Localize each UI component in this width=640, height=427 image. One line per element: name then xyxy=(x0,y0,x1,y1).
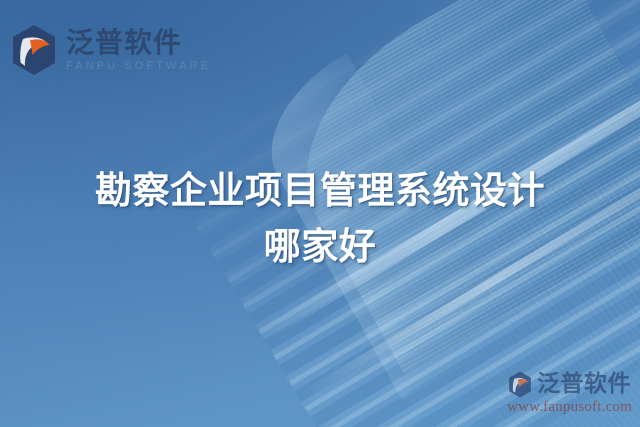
watermark-logo-row: 泛普软件 xyxy=(508,371,631,398)
watermark-company-name: 泛普软件 xyxy=(537,373,631,396)
promo-banner: 泛普软件 FANPU SOFTWARE 勘察企业项目管理系统设计 哪家好 泛普软… xyxy=(0,0,640,427)
watermark-fanpu-hexagon-sail-mark-icon xyxy=(508,371,532,398)
page-title: 勘察企业项目管理系统设计 哪家好 xyxy=(0,163,640,275)
fanpu-hexagon-sail-mark-icon xyxy=(11,24,57,76)
logo-company-name-cn: 泛普软件 xyxy=(66,28,211,58)
watermark-website-url: www.fanpusoft.com xyxy=(507,400,632,415)
fanpu-logo: 泛普软件 FANPU SOFTWARE xyxy=(11,24,211,76)
watermark: 泛普软件 www.fanpusoft.com xyxy=(507,371,632,415)
logo-wordmark: 泛普软件 FANPU SOFTWARE xyxy=(66,28,211,72)
logo-company-name-en: FANPU SOFTWARE xyxy=(66,61,211,72)
